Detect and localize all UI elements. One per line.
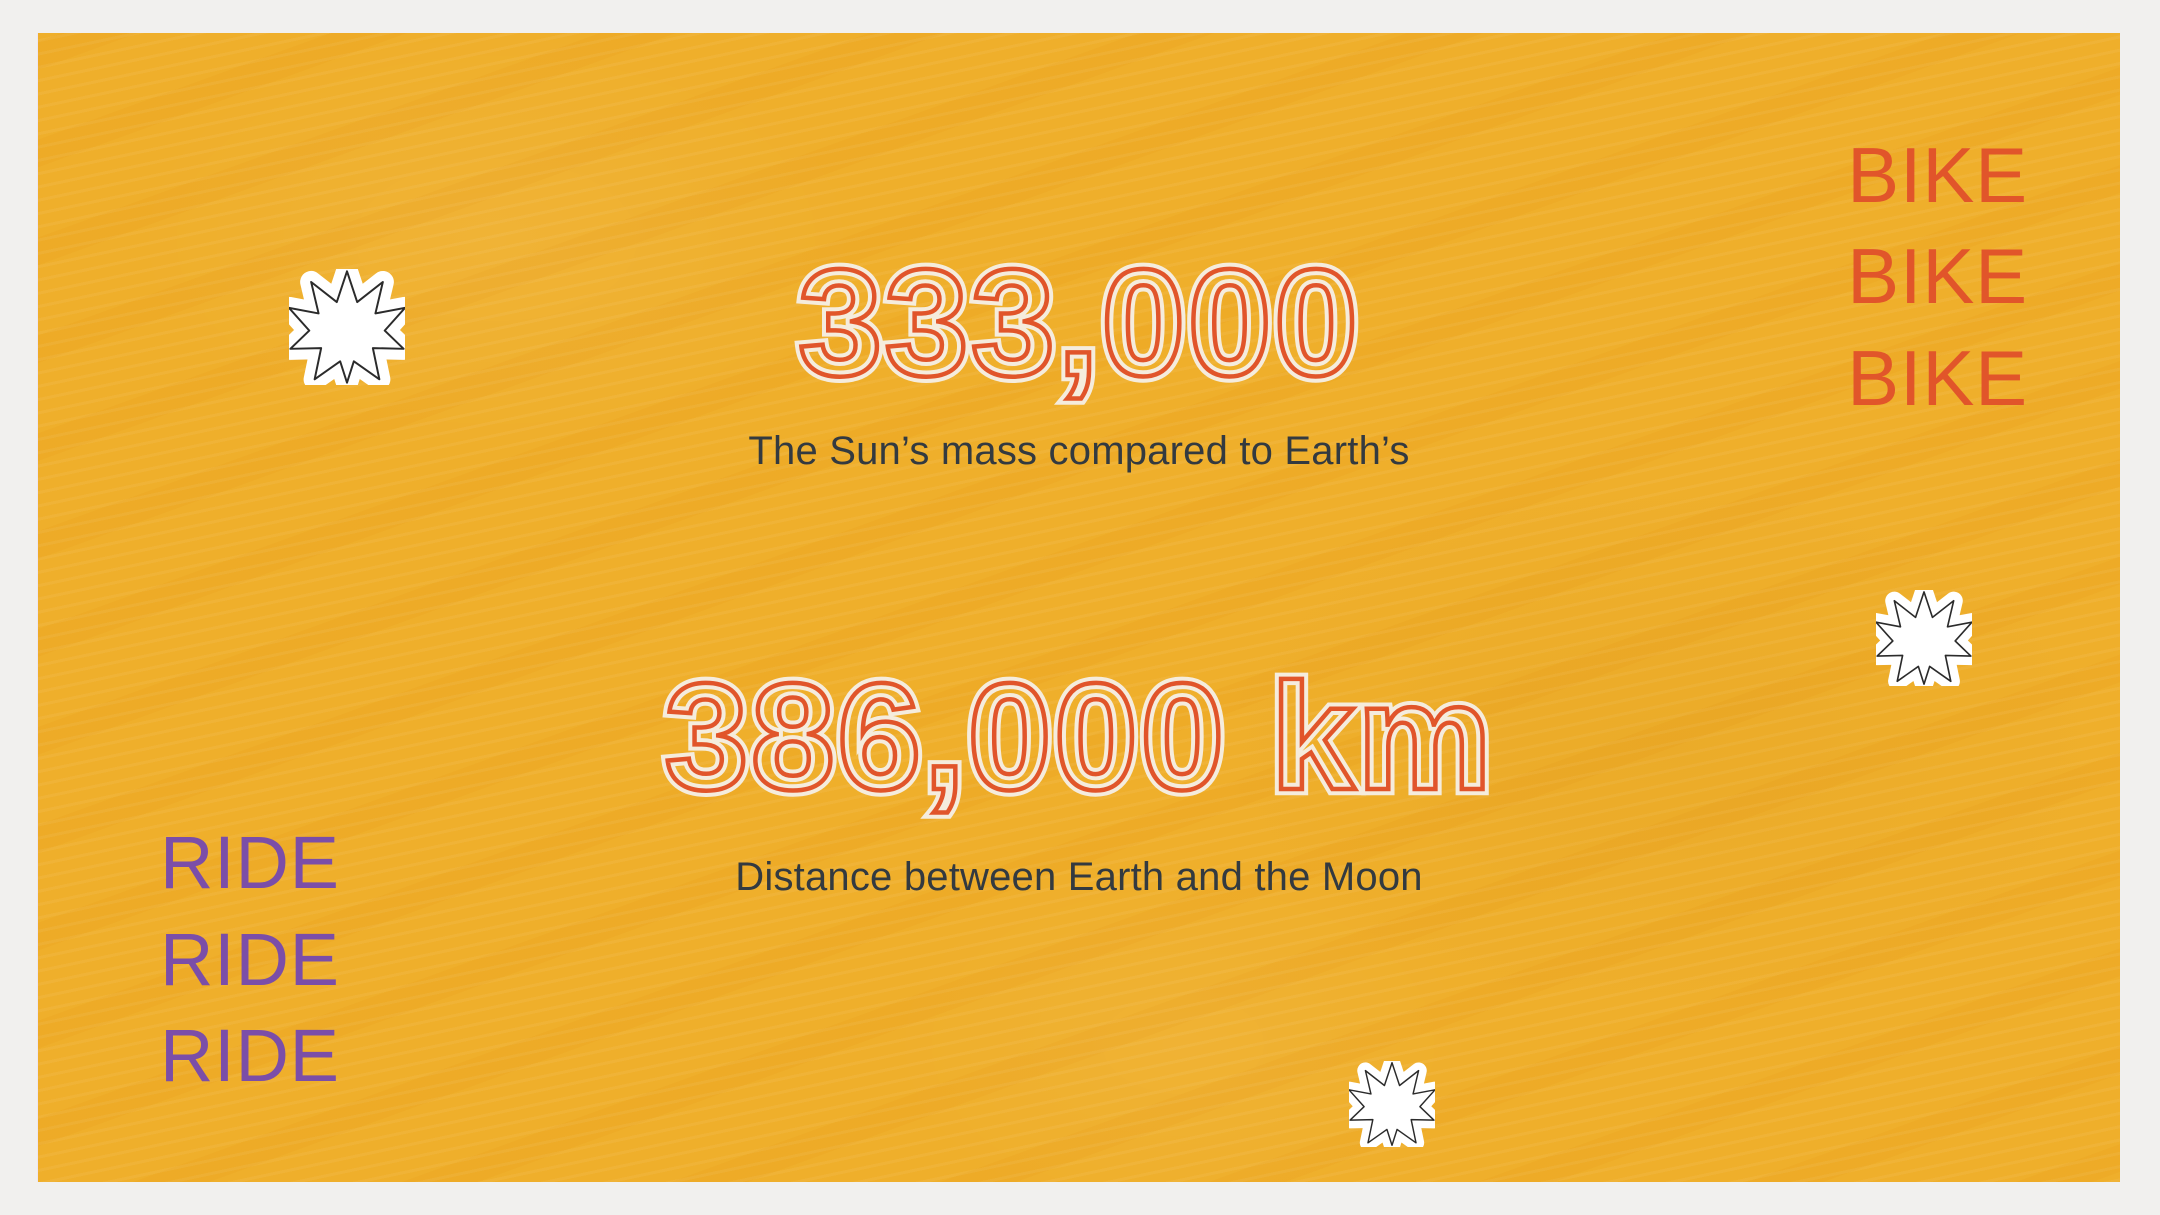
background-texture-blotches [38,33,2120,1182]
stat-caption-sun-mass: The Sun’s mass compared to Earth’s [38,429,2120,474]
stat-caption-moon-distance: Distance between Earth and the Moon [38,855,2120,900]
stat-value-moon-distance: 386,000 km [664,661,1494,813]
ride-word-line-3: RIDE [160,1008,340,1104]
starburst-icon-mid-right [1876,590,1972,686]
ride-word-line-2: RIDE [160,912,340,1008]
background-texture-sweep [38,33,2120,1182]
stat-value-moon-distance-text: 386,000 km [664,652,1494,822]
stat-value-sun-mass-text: 333,000 [798,238,1360,408]
bike-word-line-1: BIKE [1847,125,2028,226]
starburst-icon-top-left [289,269,405,385]
poster-panel: BIKE BIKE BIKE RIDE RIDE RIDE 333,000 Th… [38,33,2120,1182]
stat-block-moon-distance: 386,000 km Distance between Earth and th… [38,661,2120,900]
starburst-icon-bottom-center [1349,1061,1435,1147]
stat-value-sun-mass: 333,000 [798,247,1360,399]
background-texture-stripes [38,33,2120,1182]
